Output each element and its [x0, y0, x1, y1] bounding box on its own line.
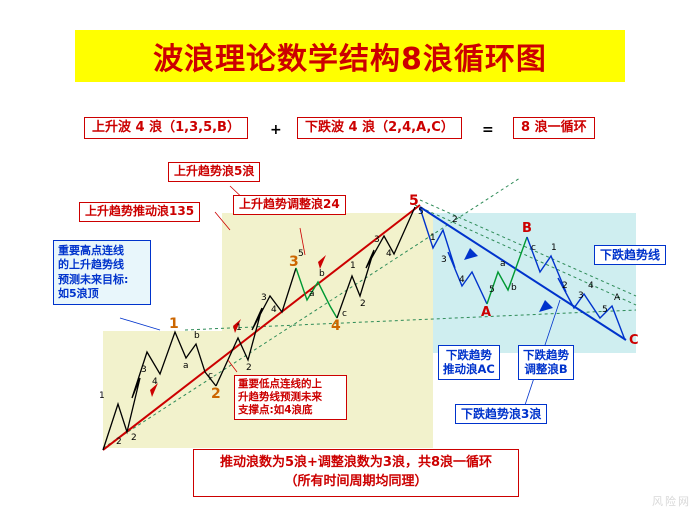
label-down-trend-3: 下跌趋势浪3浪	[455, 404, 547, 424]
label-up-trend-5: 上升趋势浪5浪	[168, 162, 260, 182]
sub-label: 5	[489, 285, 495, 295]
note-connectors	[120, 318, 160, 330]
sub-label: 2	[116, 437, 122, 447]
sub-label: 5	[298, 249, 304, 259]
label-down-correction-b: 下跌趋势 调整浪B	[518, 345, 574, 380]
sub-label: 3	[261, 293, 267, 303]
sub-label: 2	[246, 363, 252, 373]
sub-label: a	[309, 289, 315, 299]
sub-label: b	[194, 331, 200, 341]
sub-label: 4	[386, 249, 392, 259]
formula-middle-box: 下跌波 4 浪（2,4,A,C）	[297, 117, 462, 139]
sub-label: 3	[578, 291, 584, 301]
formula-left: 上升波 4 浪（1,3,5,B）	[84, 117, 248, 139]
point-label-4: 4	[331, 318, 341, 334]
sub-label: 4	[459, 275, 465, 285]
sub-label: 3	[141, 365, 147, 375]
sub-label: 4	[588, 281, 594, 291]
formula-right-box: 8 浪一循环	[513, 117, 595, 139]
sub-label: 2	[131, 433, 137, 443]
point-label-2: 2	[211, 386, 221, 402]
watermark: 风险网	[652, 493, 691, 509]
point-label-A: A	[481, 305, 491, 320]
sub-label: b	[319, 269, 325, 279]
sub-label: 3	[441, 255, 447, 265]
sub-label: 2	[360, 299, 366, 309]
note-low-points: 重要低点连线的上 升趋势线预测未来 支撑点:如4浪底	[234, 375, 347, 420]
formula-equals: =	[482, 122, 494, 138]
up-trend-panel-upper	[222, 213, 433, 331]
sub-label: 1	[350, 261, 356, 271]
sub-label: 2	[452, 215, 458, 225]
sub-label: 2	[562, 281, 568, 291]
formula-plus: +	[270, 122, 282, 138]
sub-label: b	[511, 283, 517, 293]
note-high-points: 重要高点连线 的上升趋势线 预测未来目标: 如5浪顶	[53, 240, 151, 305]
sub-label: 1	[430, 233, 436, 243]
label-up-correction-24: 上升趋势调整浪24	[233, 195, 346, 215]
point-label-B: B	[522, 221, 532, 236]
sub-label: A	[614, 293, 621, 303]
sub-label: 5	[418, 207, 424, 217]
point-label-C: C	[629, 333, 639, 348]
sub-label: c	[342, 309, 347, 319]
sub-label: a	[183, 361, 189, 371]
label-down-trend-line: 下跌趋势线	[594, 245, 666, 265]
formula-middle: 下跌波 4 浪（2,4,A,C）	[297, 117, 462, 139]
sub-label: c	[531, 243, 536, 253]
formula-left-box: 上升波 4 浪（1,3,5,B）	[84, 117, 248, 139]
point-label-1: 1	[169, 316, 179, 332]
sub-label: 4	[152, 377, 158, 387]
label-up-impulse-135: 上升趋势推动浪135	[79, 202, 200, 222]
sub-label: 1	[236, 323, 242, 333]
sub-label: c	[208, 371, 213, 381]
page-title-banner: 波浪理论数学结构8浪循环图	[75, 30, 625, 82]
sub-label: a	[500, 259, 506, 269]
sub-label: 1	[99, 391, 105, 401]
formula-right: 8 浪一循环	[513, 117, 595, 139]
sub-label: 1	[551, 243, 557, 253]
bottom-summary: 推动浪数为5浪+调整浪数为3浪，共8浪一循环 （所有时间周期均同理）	[193, 449, 519, 497]
sub-label: 5	[602, 305, 608, 315]
page-title: 波浪理论数学结构8浪循环图	[153, 34, 547, 78]
sub-label: 3	[374, 235, 380, 245]
sub-label: 4	[271, 305, 277, 315]
label-down-impulse-ac: 下跌趋势 推动浪AC	[438, 345, 500, 380]
